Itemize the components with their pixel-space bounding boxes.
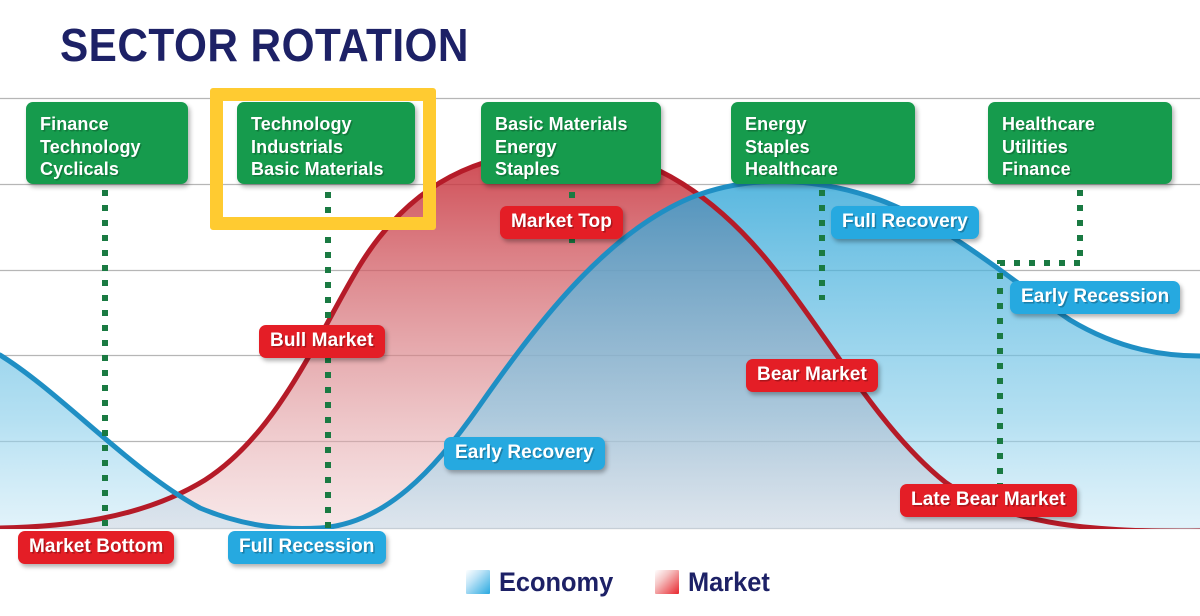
sector-line: Finance [40, 113, 174, 136]
legend-item-economy[interactable]: Economy [466, 567, 621, 598]
badge-market-top[interactable]: Market Top [500, 206, 623, 239]
sector-box-healthcare-utilities-finance[interactable]: Healthcare Utilities Finance [988, 102, 1172, 184]
sector-box-energy-staples-healthcare[interactable]: Energy Staples Healthcare [731, 102, 915, 184]
sector-line: Staples [745, 136, 901, 159]
legend-label-market: Market [688, 567, 770, 598]
sector-line: Basic Materials [251, 158, 401, 181]
badge-bear-market[interactable]: Bear Market [746, 359, 878, 392]
sector-box-technology-industrials-basic-materials[interactable]: Technology Industrials Basic Materials [237, 102, 415, 184]
market-swatch-icon [655, 570, 679, 594]
badge-market-bottom[interactable]: Market Bottom [18, 531, 174, 564]
badge-full-recession[interactable]: Full Recession [228, 531, 386, 564]
sector-line: Cyclicals [40, 158, 174, 181]
legend-item-market[interactable]: Market [655, 567, 775, 598]
sector-rotation-infographic: SECTOR ROTATION Finance Technology Cycli… [0, 0, 1200, 616]
sector-box-finance-technology-cyclicals[interactable]: Finance Technology Cyclicals [26, 102, 188, 184]
sector-line: Industrials [251, 136, 401, 159]
badge-early-recovery[interactable]: Early Recovery [444, 437, 605, 470]
badge-bull-market[interactable]: Bull Market [259, 325, 385, 358]
economy-swatch-icon [466, 570, 490, 594]
sector-line: Healthcare [745, 158, 901, 181]
sector-line: Technology [40, 136, 174, 159]
badge-full-recovery[interactable]: Full Recovery [831, 206, 979, 239]
page-title: SECTOR ROTATION [60, 22, 469, 68]
sector-line: Energy [745, 113, 901, 136]
sector-line: Healthcare [1002, 113, 1158, 136]
sector-box-basic-materials-energy-staples[interactable]: Basic Materials Energy Staples [481, 102, 661, 184]
sector-line: Basic Materials [495, 113, 647, 136]
badge-early-recession[interactable]: Early Recession [1010, 281, 1180, 314]
sector-line: Energy [495, 136, 647, 159]
chart-legend: Economy Market [466, 562, 775, 602]
sector-line: Finance [1002, 158, 1158, 181]
sector-line: Utilities [1002, 136, 1158, 159]
sector-line: Staples [495, 158, 647, 181]
badge-late-bear-market[interactable]: Late Bear Market [900, 484, 1077, 517]
legend-label-economy: Economy [499, 567, 613, 598]
sector-line: Technology [251, 113, 401, 136]
